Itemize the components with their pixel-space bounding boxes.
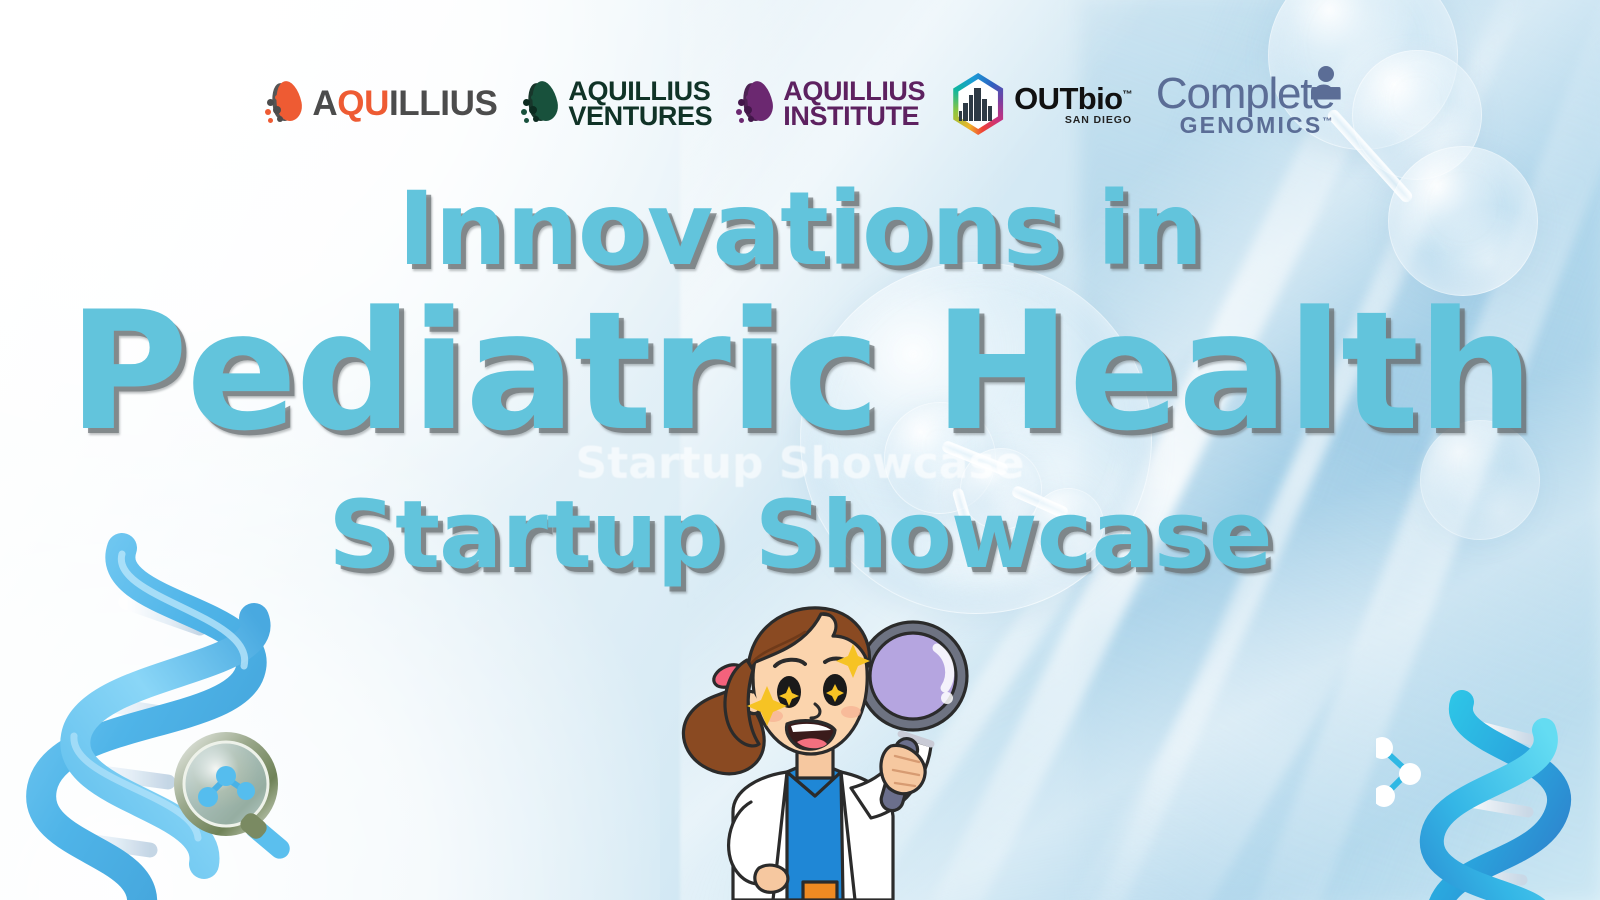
aquillius-institute-wordmark: AQUILLIUS INSTITUTE: [783, 79, 925, 130]
aquillius-wordmark-text: AQUILLIUS: [312, 88, 497, 121]
logo-aquillius-institute[interactable]: AQUILLIUS INSTITUTE: [736, 79, 925, 130]
institute-wordmark-line2: INSTITUTE: [783, 104, 925, 129]
aquillius-droplet-icon: [521, 81, 559, 127]
complete-genomics-wordmark: Complete GENOMICS™: [1156, 72, 1335, 137]
logo-aquillius-ventures[interactable]: AQUILLIUS VENTURES: [521, 79, 712, 130]
person-silhouette-icon: [1311, 66, 1341, 100]
rainbow-hexagon-skyline-icon: [949, 73, 1007, 135]
aquillius-ventures-wordmark: AQUILLIUS VENTURES: [568, 79, 712, 130]
banner-canvas: AQUILLIUS AQUILLIUS VENTURES: [0, 0, 1600, 900]
logo-aquillius[interactable]: AQUILLIUS: [265, 81, 497, 127]
glass-sphere: [1388, 146, 1538, 296]
ghost-subtitle-text: Startup Showcase: [0, 438, 1600, 489]
dna-helix-right: [1376, 688, 1600, 900]
logo-outbio-san-diego[interactable]: OUTbio™ SAN DIEGO: [949, 73, 1132, 135]
aquillius-droplet-icon: [736, 81, 774, 127]
aquillius-wordmark: AQUILLIUS: [312, 88, 497, 121]
complete-genomics-line2: GENOMICS: [1180, 112, 1323, 138]
partner-logo-bar: AQUILLIUS AQUILLIUS VENTURES: [0, 62, 1600, 146]
cartoon-girl-scientist: [655, 600, 985, 900]
outbio-wordmark: OUTbio™ SAN DIEGO: [1014, 83, 1132, 126]
ventures-wordmark-line2: VENTURES: [568, 104, 712, 129]
outbio-trademark: ™: [1122, 89, 1131, 100]
complete-genomics-line1: Complete: [1156, 72, 1335, 116]
outbio-city-label: SAN DIEGO: [1014, 115, 1132, 126]
outbio-wordmark-text: OUTbio: [1014, 81, 1122, 116]
dna-helix-with-magnifier: [18, 520, 338, 900]
logo-complete-genomics[interactable]: Complete GENOMICS™: [1156, 72, 1335, 137]
complete-genomics-trademark: ™: [1322, 116, 1334, 127]
aquillius-droplet-icon: [265, 81, 303, 127]
